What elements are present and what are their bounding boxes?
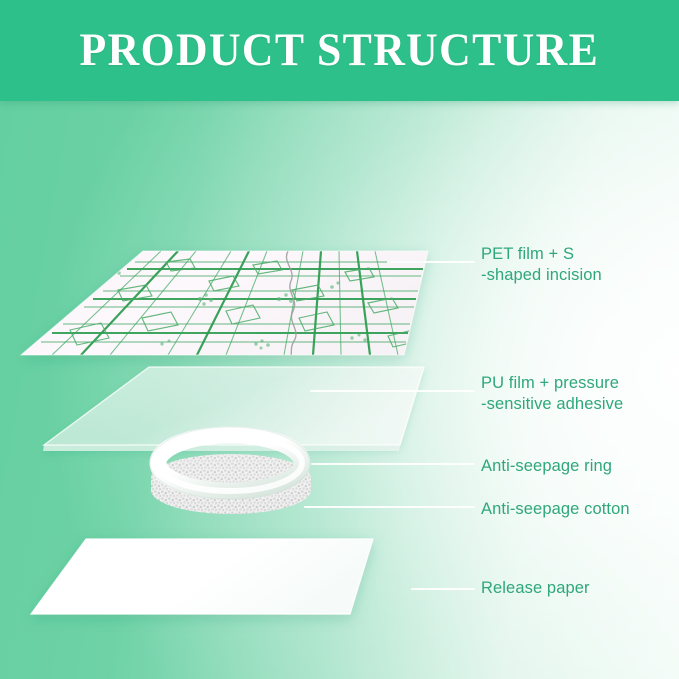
label-anti-seepage-ring-text: Anti-seepage ring (481, 457, 612, 475)
label-anti-seepage-cotton-text: Anti-seepage cotton (481, 500, 630, 518)
label-pet-film: PET film + S -shaped incision (481, 244, 602, 286)
label-anti-seepage-cotton: Anti-seepage cotton (481, 499, 630, 520)
label-anti-seepage-ring: Anti-seepage ring (481, 456, 612, 477)
product-structure-infographic: PRODUCT STRUCTURE (0, 0, 679, 679)
label-pu-film-line1: PU film + pressure (481, 374, 619, 392)
label-release-paper: Release paper (481, 578, 590, 599)
label-pet-film-line2: -shaped incision (481, 265, 602, 286)
label-pu-film: PU film + pressure -sensitive adhesive (481, 373, 623, 415)
label-release-paper-text: Release paper (481, 579, 590, 597)
release-paper-sheet (31, 539, 373, 614)
layer-pet-film (21, 251, 428, 356)
label-pu-film-line2: -sensitive adhesive (481, 394, 623, 415)
pu-film-edge (43, 445, 400, 451)
layer-release-paper (31, 539, 373, 614)
label-pet-film-line1: PET film + S (481, 245, 574, 263)
